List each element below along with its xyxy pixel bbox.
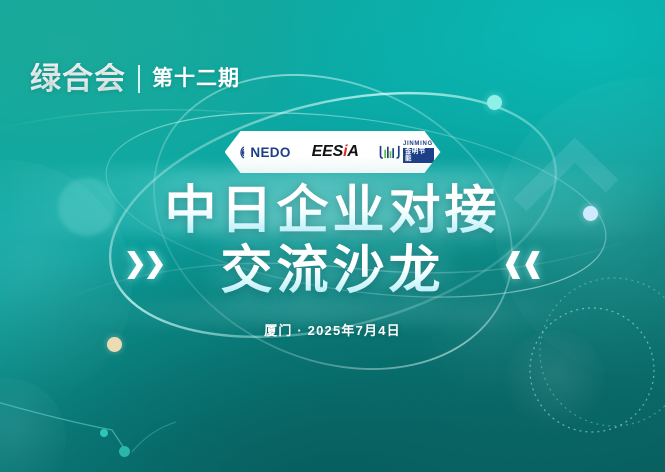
title-line-1: 中日企业对接 [0, 182, 665, 240]
brand-mark-text: 绿合会 [30, 63, 126, 94]
partner-logo-eesia: EESiA [300, 131, 371, 173]
decorative-circle-bottom-left [0, 378, 66, 472]
brand-divider [138, 65, 140, 93]
eesia-label-main: EES [312, 143, 343, 161]
decorative-dot-blue [583, 206, 598, 221]
brand-logo: 绿合会 第十二期 [30, 63, 240, 94]
decorative-dot-cyan [487, 95, 502, 110]
jinming-label-cn: 金明节能 [403, 148, 434, 163]
nedo-swirl-icon [232, 145, 247, 160]
event-date-location: 厦门 · 2025年7月4日 [0, 320, 665, 339]
partner-logo-nedo: NEDO [223, 131, 299, 173]
eesia-label-tail: A [347, 143, 358, 161]
decorative-circle-bottom-right [505, 330, 605, 430]
brand-edition-text: 第十二期 [152, 68, 240, 89]
chevron-right-decoration-left: ❯❯ [124, 250, 163, 277]
partner-logo-jinming: JINMING 金明节能 [371, 131, 442, 173]
decorative-dot-small-1 [100, 429, 108, 437]
event-poster: 绿合会 第十二期 NEDO EESiA [0, 0, 665, 472]
chevron-left-decoration-right: ❰❰ [502, 250, 541, 277]
jinming-label-en: JINMING [403, 141, 434, 147]
decorative-dot-small-2 [119, 446, 130, 457]
nedo-label: NEDO [250, 145, 290, 160]
title-line-2: 交流沙龙 [0, 242, 665, 300]
poster-title: 中日企业对接 交流沙龙 [0, 182, 665, 300]
partner-logo-badge: NEDO EESiA JINMING 金明节能 [225, 131, 441, 173]
jinming-bars-icon [379, 144, 400, 160]
decorative-dot-beige [107, 337, 122, 352]
